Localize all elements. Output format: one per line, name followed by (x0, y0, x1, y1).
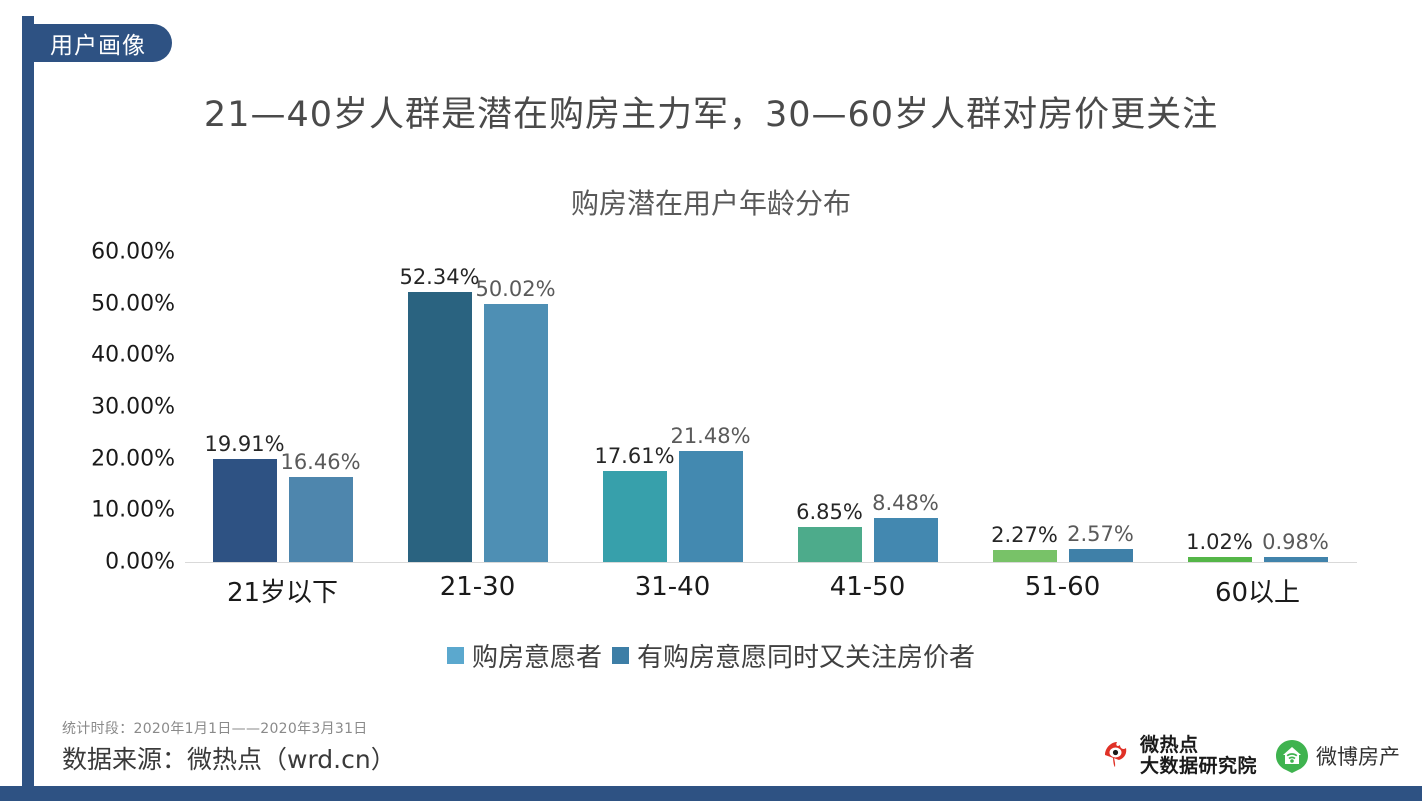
bar[interactable]: 8.48% (874, 518, 938, 562)
bar-group: 1.02%0.98% (1160, 252, 1355, 562)
bottom-accent-bar (0, 786, 1422, 801)
x-axis-tick: 51-60 (965, 572, 1160, 618)
weredian-logo: 微热点大数据研究院 (1099, 735, 1257, 776)
y-axis-tick: 50.00% (60, 291, 175, 316)
bar-pair: 17.61%21.48% (575, 252, 770, 562)
bar-value-label: 21.48% (670, 424, 750, 448)
bar[interactable]: 16.46% (289, 477, 353, 562)
legend-item[interactable]: 购房意愿者 (447, 637, 602, 674)
page-title: 21—40岁人群是潜在购房主力军，30—60岁人群对房价更关注 (0, 86, 1422, 137)
bar-pair: 19.91%16.46% (185, 252, 380, 562)
section-badge: 用户画像 (28, 24, 172, 62)
y-axis-tick: 10.00% (60, 498, 175, 523)
x-axis-tick: 41-50 (770, 572, 965, 618)
bar-value-label: 2.27% (991, 523, 1058, 547)
bar-value-label: 17.61% (594, 444, 674, 468)
section-badge-label: 用户画像 (50, 26, 146, 60)
bar-group: 19.91%16.46% (185, 252, 380, 562)
legend-swatch-icon (612, 647, 629, 664)
y-axis-tick: 40.00% (60, 343, 175, 368)
bar-pair: 52.34%50.02% (380, 252, 575, 562)
house-wifi-icon (1275, 739, 1309, 773)
logo-group: 微热点大数据研究院微博房产 (1099, 728, 1400, 784)
bar[interactable]: 50.02% (484, 304, 548, 562)
bar-value-label: 2.57% (1067, 522, 1134, 546)
bar[interactable]: 19.91% (213, 459, 277, 562)
bar-group: 17.61%21.48% (575, 252, 770, 562)
bar-value-label: 6.85% (796, 500, 863, 524)
x-axis-line (185, 562, 1357, 563)
slide-page: 用户画像 21—40岁人群是潜在购房主力军，30—60岁人群对房价更关注 购房潜… (0, 0, 1422, 801)
footer-period: 统计时段：2020年1月1日——2020年3月31日 (62, 718, 368, 738)
bar[interactable]: 2.57% (1069, 549, 1133, 562)
bar[interactable]: 52.34% (408, 292, 472, 562)
bar-value-label: 8.48% (872, 491, 939, 515)
bar-value-label: 52.34% (399, 265, 479, 289)
x-axis-tick: 31-40 (575, 572, 770, 618)
bar-value-label: 16.46% (280, 450, 360, 474)
logo-line-2: 大数据研究院 (1140, 756, 1257, 777)
bar[interactable]: 21.48% (679, 451, 743, 562)
bar[interactable]: 17.61% (603, 471, 667, 562)
y-axis-tick: 20.00% (60, 446, 175, 471)
x-axis-tick: 21-30 (380, 572, 575, 618)
bar[interactable]: 2.27% (993, 550, 1057, 562)
bar-groups: 19.91%16.46%52.34%50.02%17.61%21.48%6.85… (185, 252, 1355, 562)
bar[interactable]: 6.85% (798, 527, 862, 562)
logo-line-1: 微热点 (1140, 735, 1257, 756)
eye-flame-icon (1099, 739, 1133, 773)
x-axis-tick: 60以上 (1160, 572, 1355, 618)
bar-pair: 2.27%2.57% (965, 252, 1160, 562)
y-axis-tick: 30.00% (60, 395, 175, 420)
bar-pair: 1.02%0.98% (1160, 252, 1355, 562)
bar-value-label: 19.91% (204, 432, 284, 456)
legend-swatch-icon (447, 647, 464, 664)
bar-pair: 6.85%8.48% (770, 252, 965, 562)
bar-value-label: 1.02% (1186, 530, 1253, 554)
bar-value-label: 0.98% (1262, 530, 1329, 554)
x-axis-tick: 21岁以下 (185, 572, 380, 618)
bar[interactable]: 0.98% (1264, 557, 1328, 562)
bar-group: 2.27%2.57% (965, 252, 1160, 562)
legend-item[interactable]: 有购房意愿同时又关注房价者 (612, 637, 975, 674)
x-axis: 21岁以下21-3031-4041-5051-6060以上 (185, 572, 1355, 618)
logo-wordmark: 微博房产 (1316, 741, 1400, 771)
bar-value-label: 50.02% (475, 277, 555, 301)
y-axis-tick: 60.00% (60, 240, 175, 265)
bar-group: 6.85%8.48% (770, 252, 965, 562)
y-axis: 60.00%50.00%40.00%30.00%20.00%10.00%0.00… (60, 240, 175, 574)
weibo-fangchan-logo: 微博房产 (1275, 739, 1400, 773)
chart-title: 购房潜在用户年龄分布 (0, 182, 1422, 222)
legend-label: 有购房意愿同时又关注房价者 (637, 637, 975, 674)
legend-label: 购房意愿者 (472, 637, 602, 674)
bar-group: 52.34%50.02% (380, 252, 575, 562)
logo-wordmark: 微热点大数据研究院 (1140, 735, 1257, 776)
y-axis-tick: 0.00% (60, 550, 175, 575)
chart-legend: 购房意愿者有购房意愿同时又关注房价者 (0, 637, 1422, 674)
bar[interactable]: 1.02% (1188, 557, 1252, 562)
footer-source: 数据来源：微热点（wrd.cn） (62, 740, 396, 776)
